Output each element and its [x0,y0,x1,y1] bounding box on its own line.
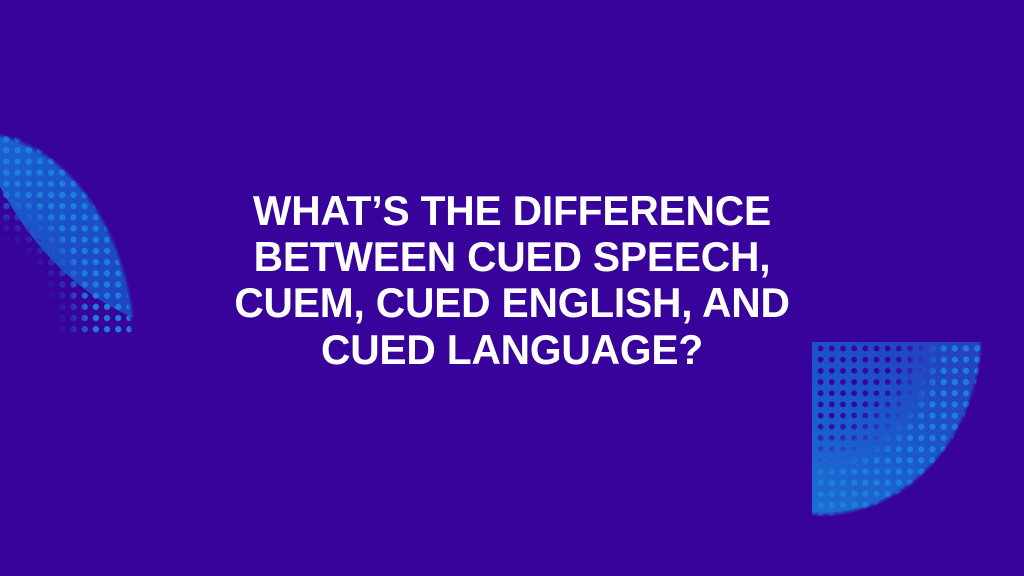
title-line-1: WHAT’S THE DIFFERENCE [192,188,832,234]
halftone-bottom-right-decoration [812,342,1024,576]
halftone-br-gradient-field [812,342,1024,576]
slide-canvas: WHAT’S THE DIFFERENCE BETWEEN CUED SPEEC… [0,0,1024,576]
title-block: WHAT’S THE DIFFERENCE BETWEEN CUED SPEEC… [0,188,1024,373]
halftone-br-dots-inverted [812,342,1024,576]
title-line-2: BETWEEN CUED SPEECH, [192,234,832,280]
halftone-br-dots [812,342,1024,576]
title-line-3: CUEM, CUED ENGLISH, AND [192,280,832,326]
title-line-4: CUED LANGUAGE? [192,327,832,373]
slide-title: WHAT’S THE DIFFERENCE BETWEEN CUED SPEEC… [192,188,832,373]
